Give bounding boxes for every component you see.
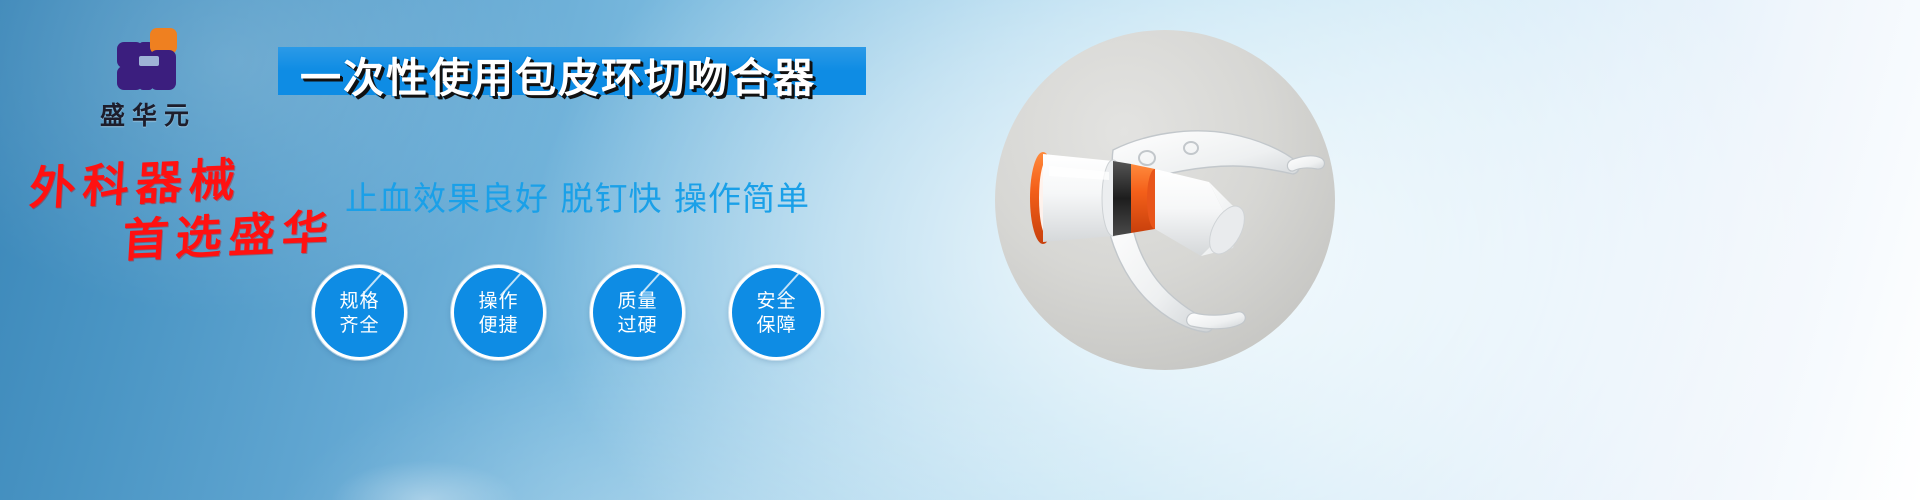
feature-label-line-2: 齐全 bbox=[339, 313, 379, 337]
shenghuayuan-logo-mark-icon bbox=[117, 28, 179, 90]
feature-badge-quality[interactable]: 质量 过硬 bbox=[590, 265, 685, 360]
brand-logo: 盛华元 bbox=[63, 28, 233, 132]
product-image bbox=[995, 30, 1335, 370]
feature-badge-list: 规格 齐全 操作 便捷 质量 过硬 安全 保障 bbox=[312, 265, 824, 360]
feature-label-line-1: 规格 bbox=[339, 289, 379, 313]
red-slogan-line-2: 首选盛华 bbox=[121, 195, 338, 270]
product-title: 一次性使用包皮环切吻合器 bbox=[300, 44, 900, 104]
logo-shape-6 bbox=[139, 56, 159, 66]
circumcision-stapler-illustration bbox=[995, 30, 1335, 370]
feature-label-line-2: 保障 bbox=[756, 313, 796, 337]
feature-badge-specifications[interactable]: 规格 齐全 bbox=[312, 265, 407, 360]
feature-label-line-1: 安全 bbox=[756, 289, 796, 313]
feature-label-line-2: 过硬 bbox=[617, 313, 657, 337]
promotional-banner: 盛华元 外科器械 首选盛华 一次性使用包皮环切吻合器 止血效果良好 脱钉快 操作… bbox=[0, 0, 1920, 500]
product-subtitle: 止血效果良好 脱钉快 操作简单 bbox=[345, 172, 810, 220]
feature-badge-safety[interactable]: 安全 保障 bbox=[729, 265, 824, 360]
company-name: 盛华元 bbox=[63, 96, 233, 132]
feature-label-line-2: 便捷 bbox=[478, 313, 518, 337]
feature-badge-operation[interactable]: 操作 便捷 bbox=[451, 265, 546, 360]
red-slogan: 外科器械 首选盛华 bbox=[18, 148, 358, 263]
feature-label-line-1: 操作 bbox=[478, 289, 518, 313]
decorative-arc-bottom bbox=[330, 460, 520, 500]
feature-label-line-1: 质量 bbox=[617, 289, 657, 313]
